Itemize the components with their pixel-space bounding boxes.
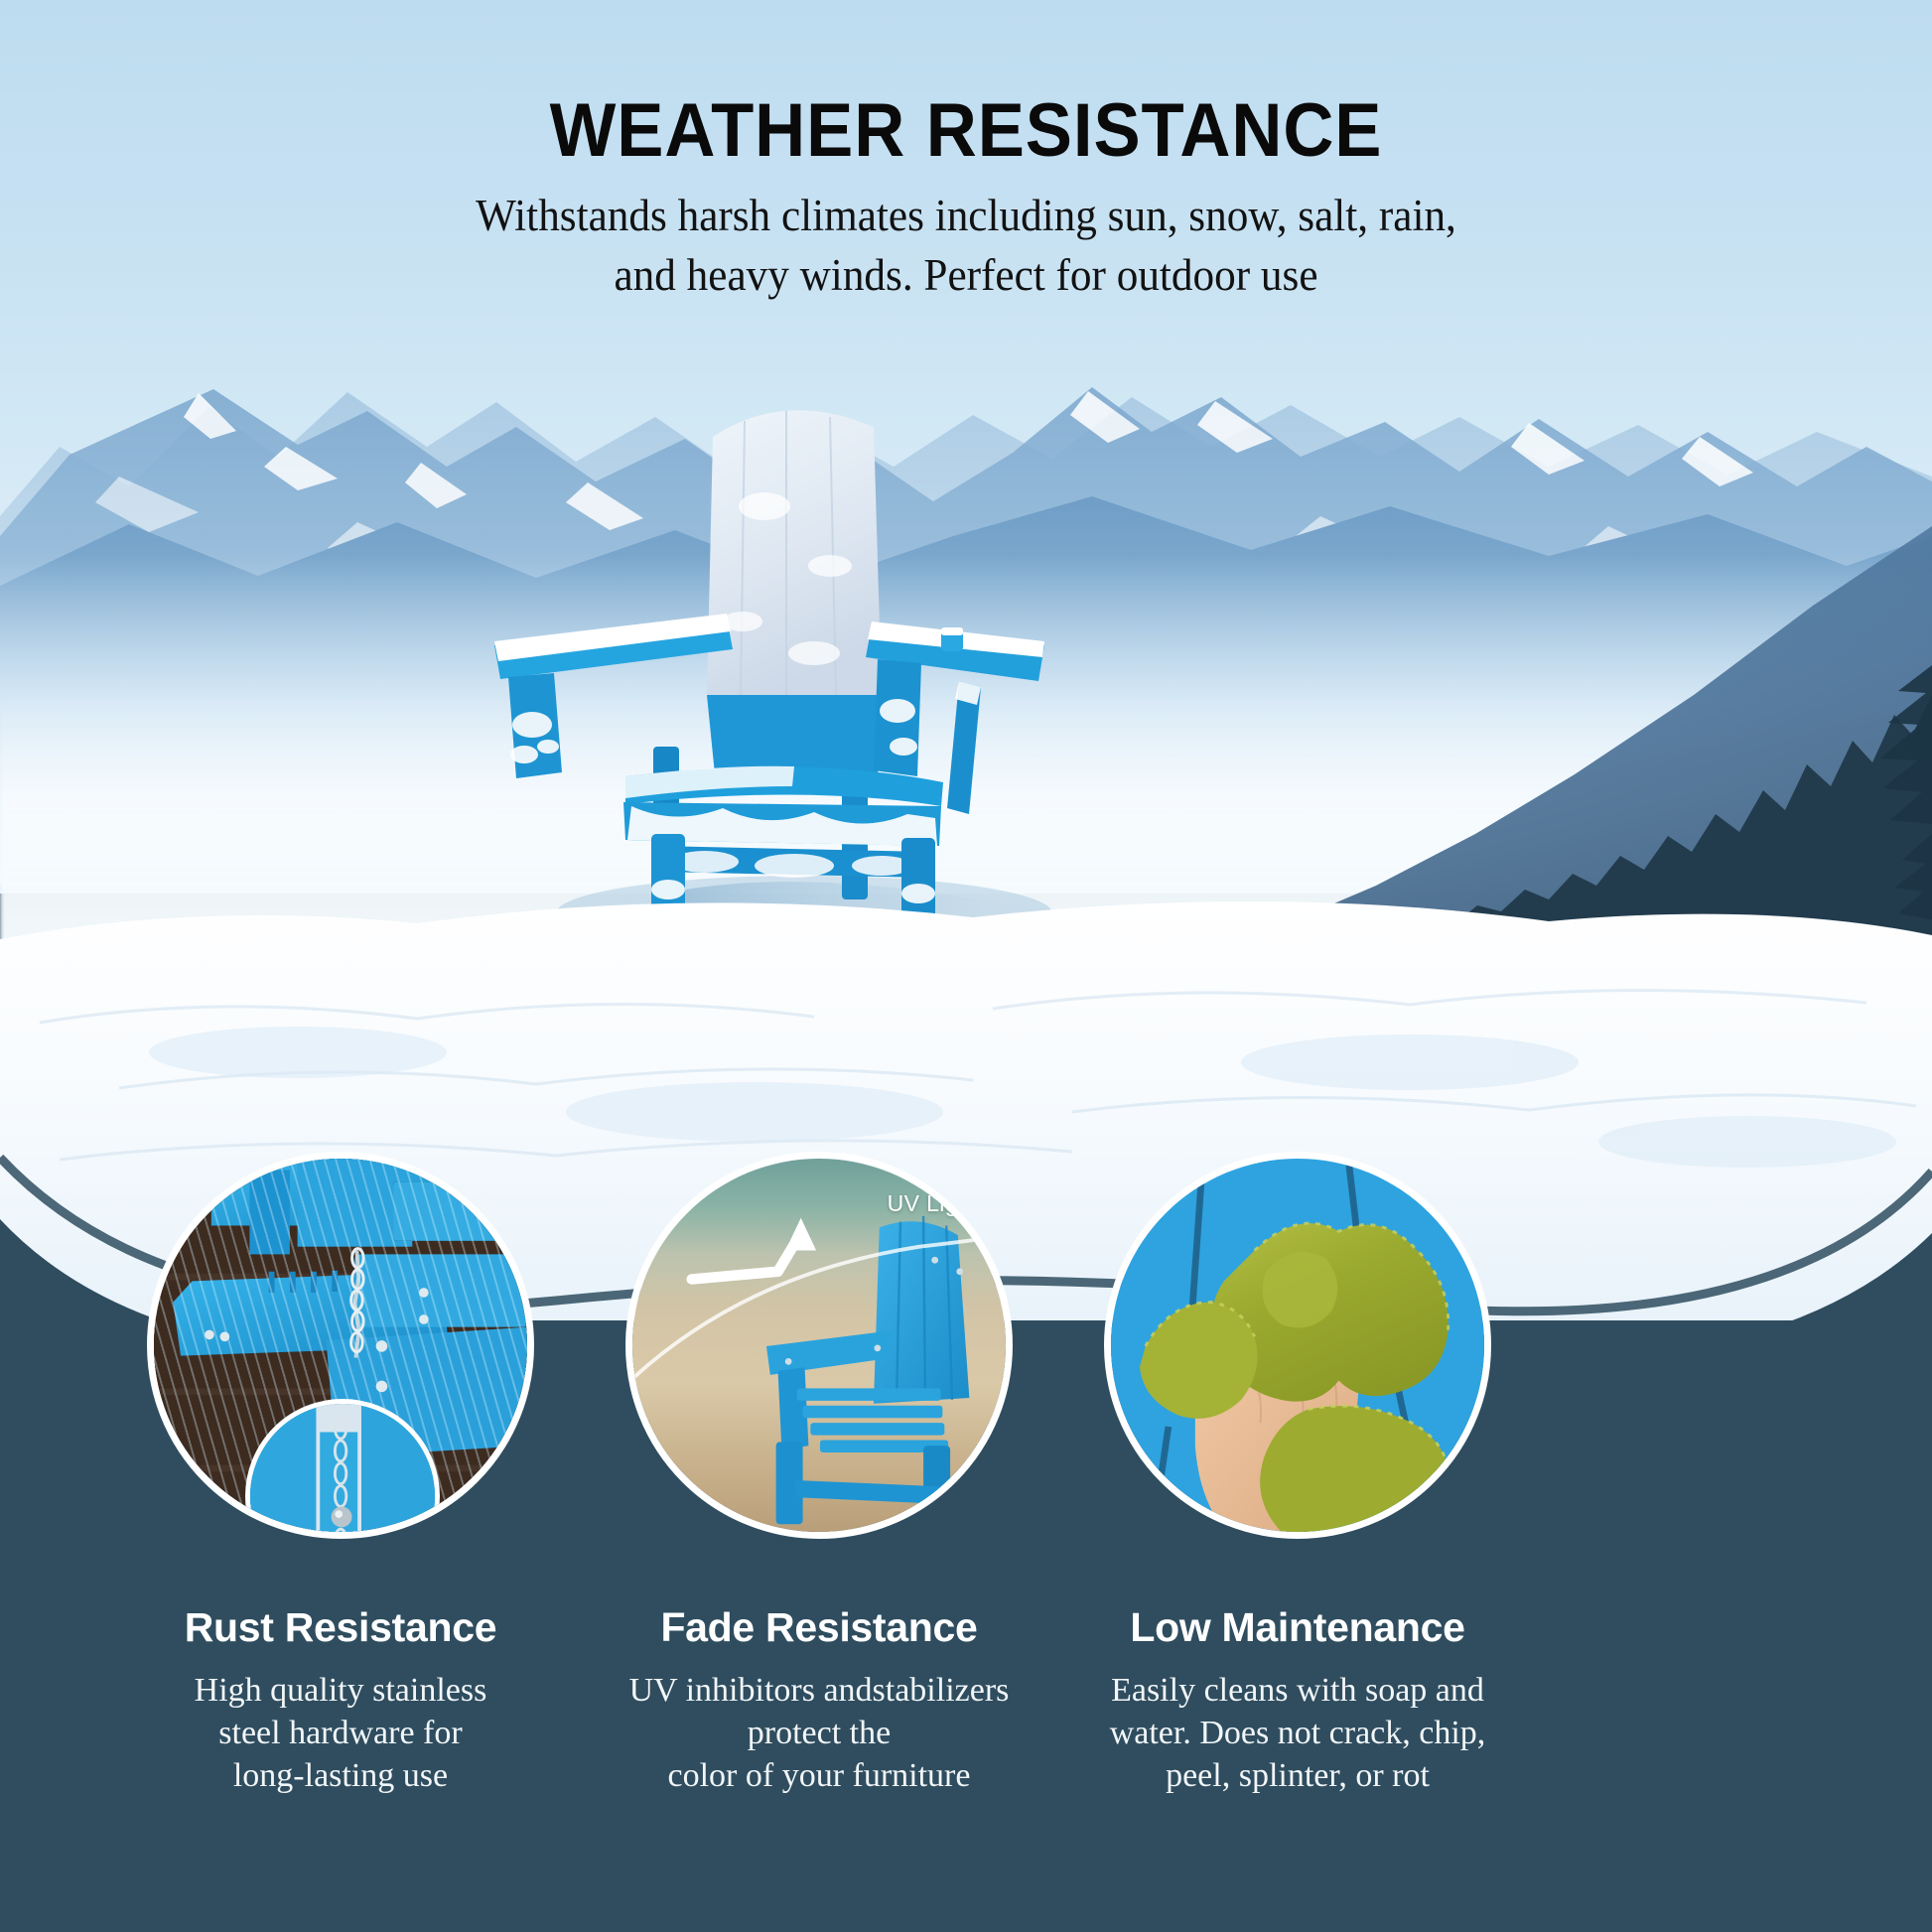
subtitle-line-2: and heavy winds. Perfect for outdoor use xyxy=(344,246,1588,306)
feature-body-rust-resistance: High quality stainless steel hardware fo… xyxy=(127,1669,554,1798)
fade-resistance-photo: UV Light xyxy=(632,1159,1006,1532)
feature-body-line: High quality stainless xyxy=(127,1669,554,1712)
feature-body-line: color of your furniture xyxy=(606,1754,1033,1797)
feature-image-rust-resistance xyxy=(147,1152,534,1539)
uv-light-label: UV Light xyxy=(888,1190,978,1217)
feature-body-fade-resistance: UV inhibitors andstabilizers protect the… xyxy=(606,1669,1033,1798)
page-subtitle: Withstands harsh climates including sun,… xyxy=(39,187,1893,306)
page-title: WEATHER RESISTANCE xyxy=(68,87,1864,174)
feature-text-rust-resistance: Rust Resistance High quality stainless s… xyxy=(127,1604,554,1798)
feature-text-fade-resistance: Fade Resistance UV inhibitors andstabili… xyxy=(606,1604,1033,1798)
feature-body-line: water. Does not crack, chip, xyxy=(1084,1712,1511,1754)
hand-with-cloth-art xyxy=(1111,1159,1484,1532)
feature-image-fade-resistance: UV Light xyxy=(625,1152,1013,1539)
feature-body-line: steel hardware for xyxy=(127,1712,554,1754)
feature-title-rust-resistance: Rust Resistance xyxy=(127,1604,554,1651)
spruce-tree-silhouette xyxy=(1714,635,1932,933)
feature-text-low-maintenance: Low Maintenance Easily cleans with soap … xyxy=(1084,1604,1511,1798)
low-maintenance-photo xyxy=(1111,1159,1484,1532)
product-infographic: WEATHER RESISTANCE Withstands harsh clim… xyxy=(0,0,1932,1932)
feature-body-line: peel, splinter, or rot xyxy=(1084,1754,1511,1797)
feature-title-low-maintenance: Low Maintenance xyxy=(1084,1604,1511,1651)
feature-body-line: protect the xyxy=(606,1712,1033,1754)
feature-body-line: long-lasting use xyxy=(127,1754,554,1797)
subtitle-line-1: Withstands harsh climates including sun,… xyxy=(344,187,1588,246)
feature-image-low-maintenance xyxy=(1104,1152,1491,1539)
feature-body-line: UV inhibitors andstabilizers xyxy=(606,1669,1033,1712)
feature-title-fade-resistance: Fade Resistance xyxy=(606,1604,1033,1651)
rust-resistance-photo xyxy=(154,1159,527,1532)
feature-body-low-maintenance: Easily cleans with soap and water. Does … xyxy=(1084,1669,1511,1798)
feature-body-line: Easily cleans with soap and xyxy=(1084,1669,1511,1712)
